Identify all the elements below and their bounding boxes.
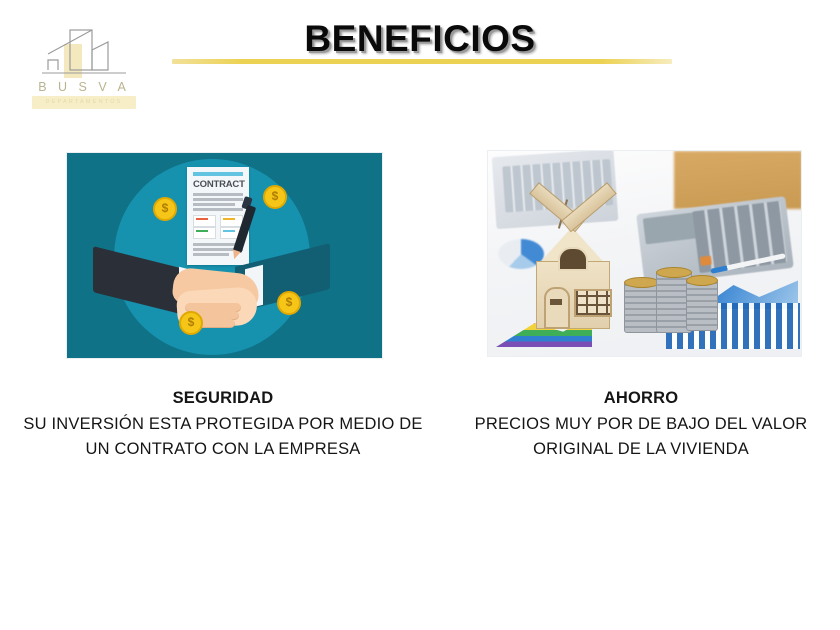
coin-stack-icon: [624, 281, 660, 333]
page-title: BENEFICIOS: [0, 18, 840, 60]
benefit-card-seguridad: CONTRACT: [66, 152, 381, 359]
logo-tagline: DEPARTAMENTOS: [32, 96, 136, 109]
house-coins-calculator-photo: [487, 150, 802, 357]
coin-icon: $: [153, 197, 177, 221]
logo-wordmark: B U S V A: [24, 80, 144, 94]
benefit-caption-ahorro: AHORRO PRECIOS MUY POR DE BAJO DEL VALOR…: [452, 386, 830, 462]
coin-icon: $: [179, 311, 203, 335]
document-header-bar: [193, 172, 243, 176]
benefit-body: PRECIOS MUY POR DE BAJO DEL VALOR ORIGIN…: [452, 412, 830, 462]
wooden-house-icon: [524, 213, 620, 331]
document-title: CONTRACT: [193, 179, 245, 190]
benefit-card-ahorro: [487, 150, 800, 357]
slide-beneficios: B U S V A DEPARTAMENTOS BENEFICIOS CONTR…: [0, 0, 840, 630]
benefit-heading: SEGURIDAD: [18, 386, 428, 411]
benefit-caption-seguridad: SEGURIDAD SU INVERSIÓN ESTA PROTEGIDA PO…: [18, 386, 428, 462]
handshake-contract-illustration: CONTRACT: [66, 152, 383, 359]
benefit-body: SU INVERSIÓN ESTA PROTEGIDA POR MEDIO DE…: [18, 412, 428, 462]
title-divider: [172, 59, 672, 64]
coin-stack-icon: [686, 279, 718, 331]
benefit-heading: AHORRO: [452, 386, 830, 411]
coin-icon: $: [263, 185, 287, 209]
coin-icon: $: [277, 291, 301, 315]
